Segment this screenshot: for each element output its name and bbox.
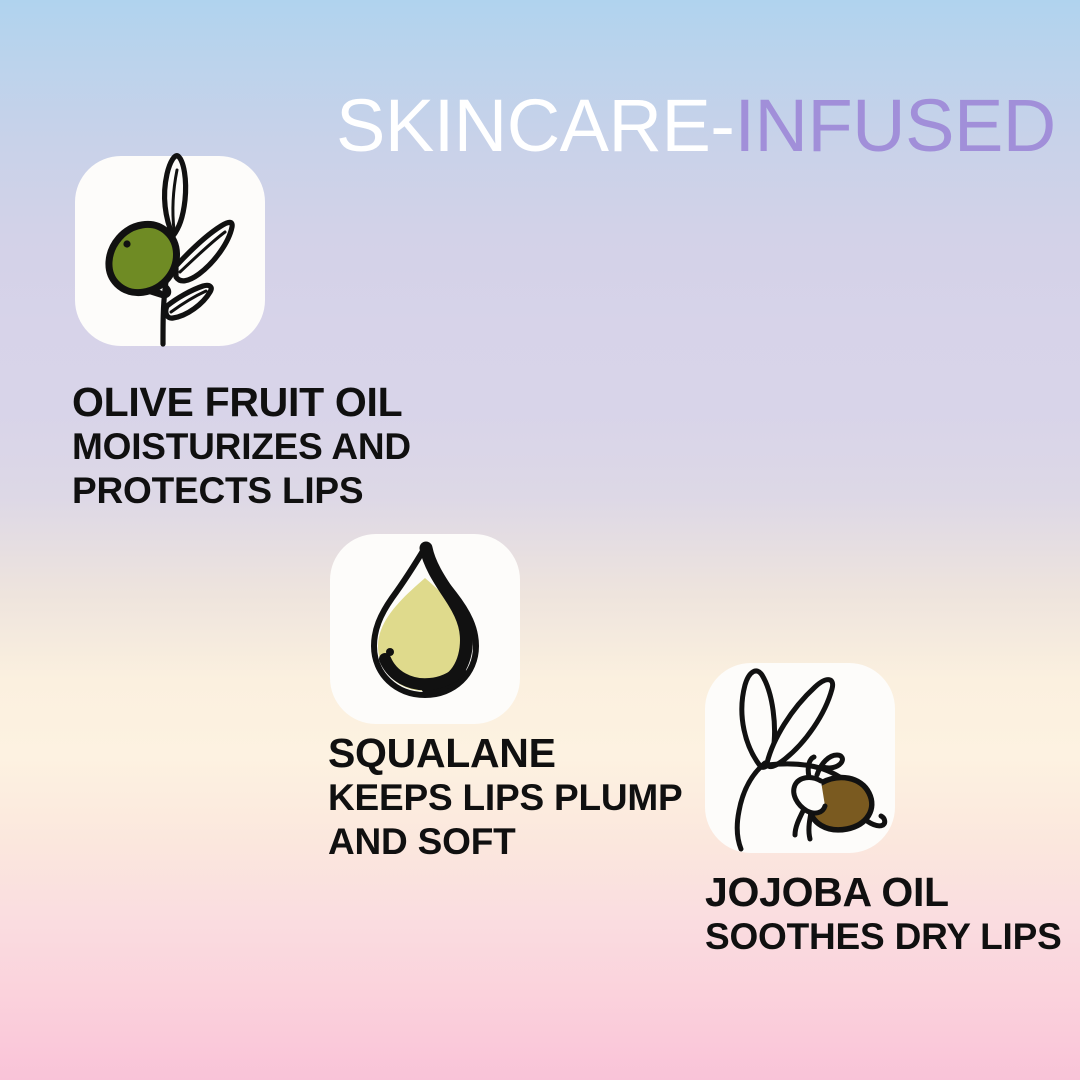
ingredient-description-olive: MOISTURIZES AND PROTECTS LIPS <box>72 425 411 513</box>
ingredient-description-squalane: KEEPS LIPS PLUMP AND SOFT <box>328 776 683 864</box>
olive-branch-icon <box>75 156 265 346</box>
description-line: KEEPS LIPS PLUMP <box>328 776 683 820</box>
ingredient-description-jojoba: SOOTHES DRY LIPS <box>705 915 1062 959</box>
ingredient-heading-squalane: SQUALANE <box>328 730 683 776</box>
ingredient-text-squalane: SQUALANE KEEPS LIPS PLUMP AND SOFT <box>328 730 683 864</box>
ingredient-card-squalane <box>330 534 520 724</box>
ingredient-heading-olive: OLIVE FRUIT OIL <box>72 379 411 425</box>
description-line: PROTECTS LIPS <box>72 469 411 513</box>
page-title: SKINCARE-INFUSED <box>336 86 1056 166</box>
ingredient-card-olive <box>75 156 265 346</box>
page-title-part-primary: SKINCARE- <box>336 84 734 167</box>
description-line: AND SOFT <box>328 820 683 864</box>
ingredient-text-olive: OLIVE FRUIT OIL MOISTURIZES AND PROTECTS… <box>72 379 411 513</box>
ingredient-card-jojoba <box>705 663 895 853</box>
jojoba-seed-icon <box>705 663 895 853</box>
oil-droplet-icon <box>330 534 520 724</box>
ingredient-heading-jojoba: JOJOBA OIL <box>705 869 1062 915</box>
skincare-infographic-poster: SKINCARE-INFUSED <box>0 0 1080 1080</box>
description-line: SOOTHES DRY LIPS <box>705 915 1062 959</box>
page-title-part-accent: INFUSED <box>734 84 1055 167</box>
ingredient-text-jojoba: JOJOBA OIL SOOTHES DRY LIPS <box>705 869 1062 959</box>
description-line: MOISTURIZES AND <box>72 425 411 469</box>
